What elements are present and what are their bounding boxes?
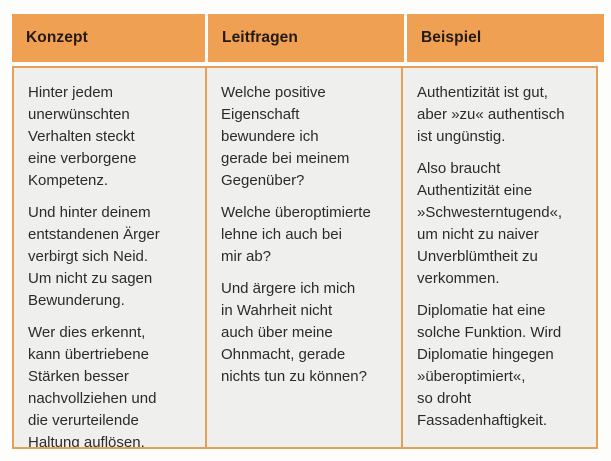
concept-table: Konzept Leitfragen Beispiel Hinter jedem… [12,14,598,449]
table-header-cell-konzept: Konzept [12,14,205,62]
table-cell-konzept: Hinter jedem unerwünschten Verhalten ste… [14,68,205,447]
table-header-row: Konzept Leitfragen Beispiel [12,14,598,62]
paragraph: Welche überoptimierte lehne ich auch bei… [221,202,391,268]
paragraph: Und hinter deinem entstandenen Ärger ver… [28,202,195,312]
table-header-cell-leitfragen: Leitfragen [208,14,404,62]
table-header-label-beispiel: Beispiel [421,29,481,46]
paragraph: Welche positive Eigenschaft bewundere ic… [221,82,391,192]
table-cell-leitfragen: Welche positive Eigenschaft bewundere ic… [207,68,401,447]
table-cell-beispiel: Authentizität ist gut, aber »zu« authent… [403,68,596,447]
table-body-row: Hinter jedem unerwünschten Verhalten ste… [12,66,598,449]
table-header-label-leitfragen: Leitfragen [222,29,298,46]
paragraph: Diplomatie hat eine solche Funktion. Wir… [417,300,586,432]
page-root: Konzept Leitfragen Beispiel Hinter jedem… [0,0,611,461]
table-header-cell-beispiel: Beispiel [407,14,604,62]
table-header-label-konzept: Konzept [26,29,88,46]
paragraph: Und ärgere ich mich in Wahrheit nicht au… [221,278,391,388]
paragraph: Wer dies erkennt, kann übertriebene Stär… [28,322,195,447]
paragraph: Hinter jedem unerwünschten Verhalten ste… [28,82,195,192]
paragraph: Authentizität ist gut, aber »zu« authent… [417,82,586,148]
paragraph: Also braucht Authentizität eine »Schwest… [417,158,586,290]
